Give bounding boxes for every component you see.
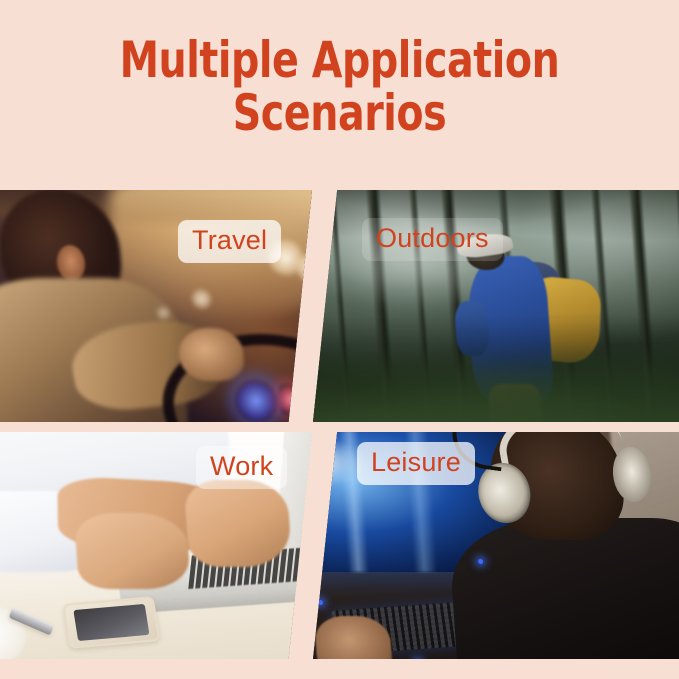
panel-label-leisure: Leisure — [357, 442, 475, 485]
panel-label-travel: Travel — [178, 220, 281, 263]
page-title-line-1: Multiple Application — [41, 34, 639, 87]
blue-led-1 — [317, 600, 322, 605]
forest-undergrowth-shape — [313, 317, 679, 422]
driver-hand-shape — [178, 328, 246, 381]
bokeh-light-3 — [191, 289, 212, 308]
page-title: Multiple Application Scenarios — [0, 34, 679, 140]
typing-hand-right-shape — [183, 480, 293, 567]
promo-graphic: Multiple Application Scenarios — [0, 0, 679, 679]
panel-label-outdoors: Outdoors — [362, 218, 503, 261]
smartphone-shape — [62, 596, 160, 649]
smartphone-screen-shape — [73, 604, 149, 640]
panel-label-work: Work — [196, 446, 287, 489]
page-title-line-2: Scenarios — [41, 87, 639, 140]
bokeh-light-4 — [156, 306, 171, 320]
dashboard-gauge-center — [279, 384, 305, 415]
scenario-panel-grid — [0, 186, 679, 661]
typing-hand-left-shape — [74, 513, 191, 589]
